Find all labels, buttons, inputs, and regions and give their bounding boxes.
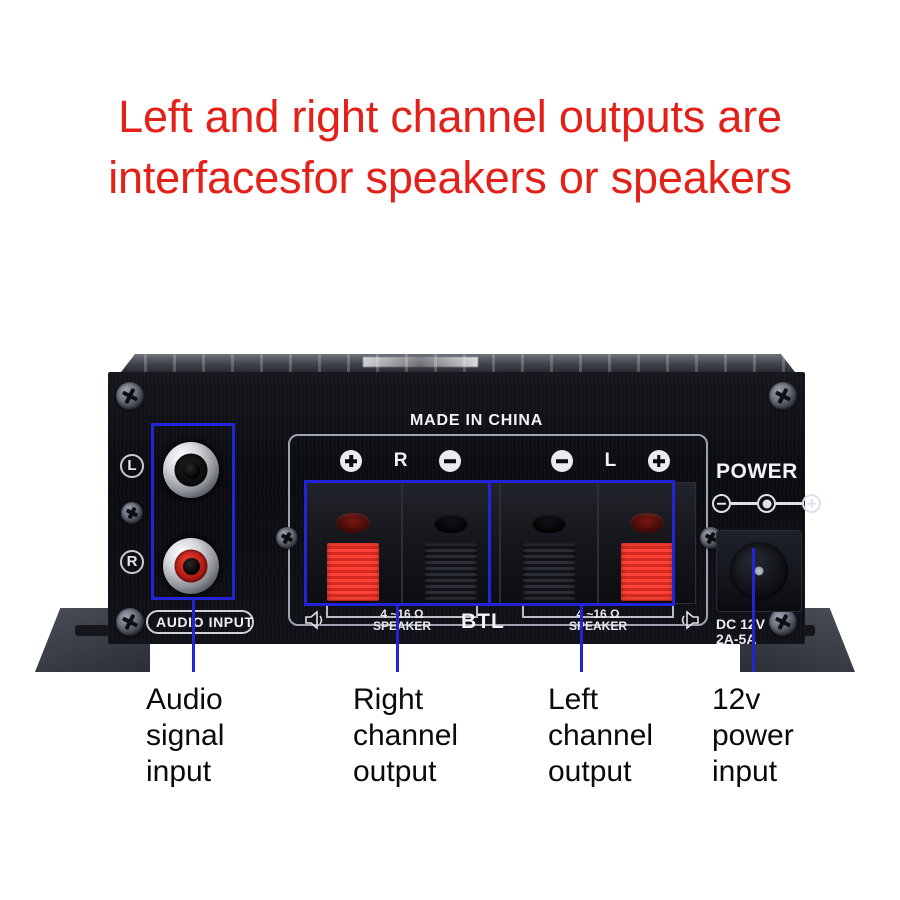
caption-audio-signal-input: Audio signal input [146, 682, 224, 790]
made-in-china-text: MADE IN CHINA [410, 412, 543, 430]
highlight-box-audio-input [151, 423, 235, 600]
rca-label-left: L [120, 454, 144, 478]
impedance-right-line2: SPEAKER [346, 620, 458, 632]
minus-icon-left-channel [551, 450, 573, 472]
polarity-line-right [776, 502, 802, 505]
caption-12v-power-input: 12v power input [712, 682, 794, 790]
speaker-icon-left [678, 610, 700, 630]
impedance-label-left: 4 ~16 Ω SPEAKER [542, 608, 654, 632]
plus-icon-right-channel [340, 450, 362, 472]
impedance-label-right: 4 ~16 Ω SPEAKER [346, 608, 458, 632]
caption-left-line2: channel [548, 718, 653, 754]
btl-label: BTL [461, 610, 505, 634]
caption-left-line3: output [548, 754, 653, 790]
caption-left-line1: Left [548, 682, 653, 718]
headline-line-2: interfacesfor speakers or speakers [0, 147, 900, 208]
caption-power-line1: 12v [712, 682, 794, 718]
polarity-line-left [731, 502, 757, 505]
dc-power-jack[interactable] [730, 542, 788, 600]
screw-bottom-right [769, 608, 797, 636]
leader-line-left-channel [580, 606, 583, 672]
plus-icon-left-channel [648, 450, 670, 472]
caption-audio-line1: Audio [146, 682, 224, 718]
impedance-left-line2: SPEAKER [542, 620, 654, 632]
minus-icon-right-channel [439, 450, 461, 472]
caption-right-line3: output [353, 754, 458, 790]
screw-top-right [769, 382, 797, 410]
screw-bottom-left [116, 608, 144, 636]
leader-line-power-input [752, 548, 755, 672]
leader-line-right-channel [396, 606, 399, 672]
power-title: POWER [716, 460, 798, 484]
terminal-label-right: R [394, 450, 408, 472]
highlight-box-left-channel [488, 480, 675, 606]
terminal-polarity-row: R L [340, 450, 670, 472]
polarity-center-pin-icon [757, 494, 776, 513]
caption-right-channel-output: Right channel output [353, 682, 458, 790]
dc-rating-line2: 2A-5A [716, 632, 765, 647]
rca-label-right: R [120, 550, 144, 574]
caption-power-line3: input [712, 754, 794, 790]
caption-right-line1: Right [353, 682, 458, 718]
terminal-label-left: L [605, 450, 617, 472]
caption-audio-line2: signal [146, 718, 224, 754]
polarity-plus-icon [802, 494, 821, 513]
headline-line-1: Left and right channel outputs are [0, 86, 900, 147]
dc-rating-label: DC 12V 2A-5A [716, 617, 765, 647]
polarity-minus-icon [712, 494, 731, 513]
screw-rca-middle [121, 502, 143, 524]
power-polarity-diagram [712, 494, 821, 513]
dc-rating-line1: DC 12V [716, 617, 765, 632]
speaker-icon-right [304, 610, 326, 630]
screw-top-left [116, 382, 144, 410]
lid-highlight [363, 357, 479, 367]
caption-audio-line3: input [146, 754, 224, 790]
dc-jack-plate[interactable] [716, 530, 802, 612]
caption-right-line2: channel [353, 718, 458, 754]
leader-line-audio-input [192, 600, 195, 672]
audio-input-label: AUDIO INPUT [146, 610, 254, 634]
screw-terminal-left-side [276, 527, 298, 549]
amplifier-rear-panel: MADE IN CHINA L R AUDIO INPUT R L [0, 352, 900, 672]
caption-power-line2: power [712, 718, 794, 754]
flange-slot-left [75, 625, 109, 636]
caption-left-channel-output: Left channel output [548, 682, 653, 790]
highlight-box-right-channel [304, 480, 491, 606]
headline-text: Left and right channel outputs are inter… [0, 86, 900, 208]
